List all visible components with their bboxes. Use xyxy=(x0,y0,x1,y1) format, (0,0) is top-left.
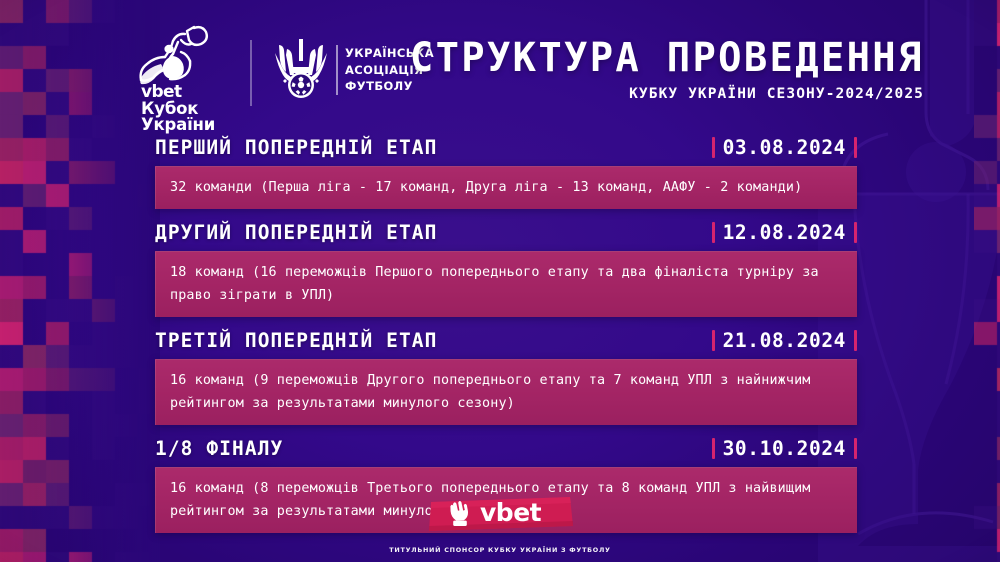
stage-description-line: право зіграти в УПЛ) xyxy=(170,284,843,307)
logo-divider xyxy=(250,40,252,106)
page-title: СТРУКТУРА ПРОВЕДЕННЯ xyxy=(410,36,924,80)
stage-list: ПЕРШИЙ ПОПЕРЕДНІЙ ЕТАП03.08.202432 коман… xyxy=(0,130,1000,539)
date-tick-left-icon xyxy=(712,438,715,459)
stage-date-group: 03.08.2024 xyxy=(712,136,857,159)
vbet-sponsor-logo: vbet xyxy=(424,493,576,537)
stage-description-band: 32 команди (Перша ліга - 17 команд, Друг… xyxy=(155,166,857,209)
poster-footer: vbet ТИТУЛЬНИЙ СПОНСОР КУБКУ УКРАЇНИ З Ф… xyxy=(0,493,1000,554)
stage-header: ТРЕТІЙ ПОПЕРЕДНІЙ ЕТАП21.08.2024 xyxy=(155,323,857,357)
stage-row: ПЕРШИЙ ПОПЕРЕДНІЙ ЕТАП03.08.202432 коман… xyxy=(0,130,1000,209)
stage-date-group: 12.08.2024 xyxy=(712,221,857,244)
stage-title: ПЕРШИЙ ПОПЕРЕДНІЙ ЕТАП xyxy=(155,136,437,159)
stage-description-line: 32 команди (Перша ліга - 17 команд, Друг… xyxy=(170,176,843,199)
stage-date: 21.08.2024 xyxy=(723,329,846,352)
stage-description-line: рейтингом за результатами минулого сезон… xyxy=(170,392,843,415)
stage-row: ДРУГИЙ ПОПЕРЕДНІЙ ЕТАП12.08.202418 коман… xyxy=(0,215,1000,317)
stage-date-group: 30.10.2024 xyxy=(712,437,857,460)
date-tick-left-icon xyxy=(712,222,715,243)
uaf-divider xyxy=(336,45,338,95)
poster-header: vbet Кубок України xyxy=(0,0,1000,128)
title-block: СТРУКТУРА ПРОВЕДЕННЯ КУБКУ УКРАЇНИ СЕЗОН… xyxy=(394,36,924,102)
date-tick-right-icon xyxy=(854,137,857,158)
stage-description-line: 16 команд (9 переможців Другого попередн… xyxy=(170,369,843,392)
poster-root: vbet Кубок України xyxy=(0,0,1000,562)
date-tick-right-icon xyxy=(854,222,857,243)
trophy-lifting-figure-icon xyxy=(137,22,215,88)
stage-description-band: 18 команд (16 переможців Першого поперед… xyxy=(155,251,857,317)
stage-header: ПЕРШИЙ ПОПЕРЕДНІЙ ЕТАП03.08.2024 xyxy=(155,130,857,164)
stage-date: 12.08.2024 xyxy=(723,221,846,244)
date-tick-left-icon xyxy=(712,137,715,158)
stage-header: ДРУГИЙ ПОПЕРЕДНІЙ ЕТАП12.08.2024 xyxy=(155,215,857,249)
page-subtitle: КУБКУ УКРАЇНИ СЕЗОНУ-2024/2025 xyxy=(394,86,924,102)
stage-title: ТРЕТІЙ ПОПЕРЕДНІЙ ЕТАП xyxy=(155,329,437,352)
date-tick-left-icon xyxy=(712,330,715,351)
date-tick-right-icon xyxy=(854,438,857,459)
stage-header: 1/8 ФІНАЛУ30.10.2024 xyxy=(155,431,857,465)
stage-date: 03.08.2024 xyxy=(723,136,846,159)
stage-title: ДРУГИЙ ПОПЕРЕДНІЙ ЕТАП xyxy=(155,221,437,244)
date-tick-right-icon xyxy=(854,330,857,351)
stage-description-band: 16 команд (9 переможців Другого попередн… xyxy=(155,359,857,425)
stage-date-group: 21.08.2024 xyxy=(712,329,857,352)
stage-row: ТРЕТІЙ ПОПЕРЕДНІЙ ЕТАП21.08.202416 коман… xyxy=(0,323,1000,425)
stage-date: 30.10.2024 xyxy=(723,437,846,460)
footer-caption: ТИТУЛЬНИЙ СПОНСОР КУБКУ УКРАЇНИ З ФУТБОЛ… xyxy=(0,546,1000,554)
stage-title: 1/8 ФІНАЛУ xyxy=(155,437,283,460)
vbet-logo-text: vbet xyxy=(480,498,542,527)
ukraine-trident-football-icon xyxy=(273,37,329,105)
vbet-cup-wordmark: vbet Кубок України xyxy=(141,84,215,134)
stage-description-line: 18 команд (16 переможців Першого поперед… xyxy=(170,261,843,284)
vbet-cup-logo: vbet Кубок України xyxy=(133,22,238,122)
